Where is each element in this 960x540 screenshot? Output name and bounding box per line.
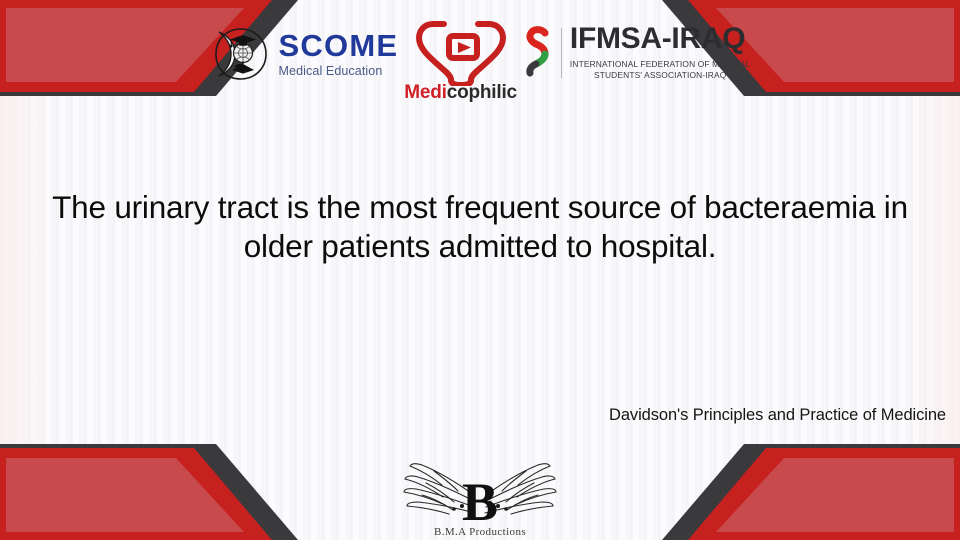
quote-text: The urinary tract is the most frequent s… (30, 188, 930, 267)
logo-bar: SCOME Medical Education Medicophilic (0, 14, 960, 106)
bma-productions-logo: B B.M.A Productions (374, 451, 586, 538)
ifmsa-wordmark: IFMSA-IRAQ INTERNATIONAL FEDERATION OF M… (570, 24, 751, 81)
ifmsa-logo: IFMSA-IRAQ INTERNATIONAL FEDERATION OF M… (523, 24, 751, 81)
corner-banner-bottom-right (542, 444, 960, 540)
bma-caption: B.M.A Productions (374, 526, 586, 538)
ifmsa-subtitle-line2: STUDENTS' ASSOCIATION-IRAQ (594, 70, 726, 80)
stethoscope-heart-play-icon (413, 14, 509, 86)
medicophilic-name-part2: cophilic (447, 82, 517, 103)
scome-subtitle: Medical Education (279, 65, 399, 78)
medicophilic-name-part1: Medi (404, 82, 446, 103)
quote-line-2: older patients admitted to hospital. (244, 228, 717, 264)
winged-b-logo-icon: B (374, 451, 586, 535)
scome-name: SCOME (279, 30, 399, 61)
ifmsa-ribbon-s-icon (523, 25, 553, 81)
quote-line-1: The urinary tract is the most frequent s… (52, 189, 908, 225)
scome-wordmark: SCOME Medical Education (279, 30, 399, 78)
scome-globe-graduation-cap-icon (210, 26, 272, 82)
source-attribution: Davidson's Principles and Practice of Me… (609, 406, 946, 425)
medicophilic-logo: Medicophilic (404, 14, 517, 104)
corner-banner-bottom-left (0, 444, 418, 540)
scome-logo: SCOME Medical Education (210, 26, 399, 82)
medicophilic-wordmark: Medicophilic (404, 82, 517, 104)
ifmsa-divider (561, 28, 562, 78)
ifmsa-name: IFMSA-IRAQ (570, 24, 751, 54)
slide-canvas: SCOME Medical Education Medicophilic (0, 0, 960, 540)
ifmsa-subtitle-line1: INTERNATIONAL FEDERATION OF MEDICAL (570, 59, 751, 69)
svg-text:B: B (462, 472, 498, 532)
ifmsa-subtitle: INTERNATIONAL FEDERATION OF MEDICAL STUD… (570, 59, 751, 81)
